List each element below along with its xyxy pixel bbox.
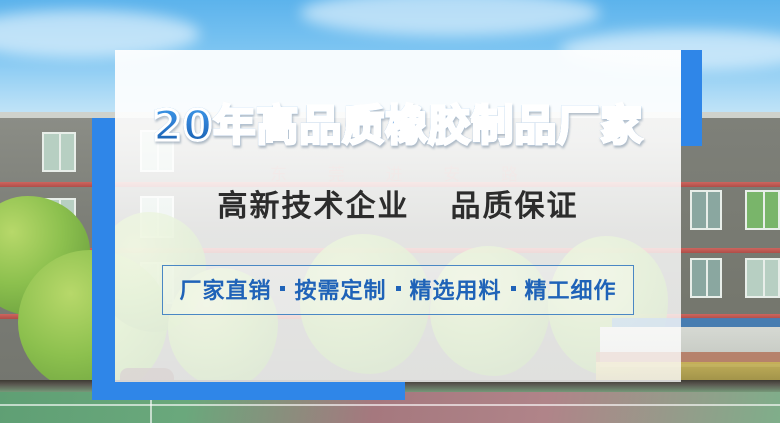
tagline-separator-dot [511, 286, 516, 291]
accent-bar-left [92, 118, 115, 400]
subheadline-left: 高新技术企业 [218, 189, 410, 224]
court-line [0, 404, 780, 406]
tagline-item: 厂家直销 [179, 273, 271, 305]
building-window [690, 190, 722, 230]
building-window [42, 132, 76, 172]
banner-content: 20年高品质橡胶制品厂家 高新技术企业 品质保证 厂家直销 按需定制 精选用料 … [115, 50, 681, 382]
promo-banner: 东 莞 进 安 路 20年高品质橡胶制品厂家 高新技术企业 品质保证 厂家直销 [0, 0, 780, 423]
building-window [745, 258, 780, 298]
tagline-item: 精选用料 [410, 273, 502, 305]
building-window [690, 258, 722, 298]
tagline-item: 精工细作 [525, 273, 617, 305]
tagline-separator-dot [396, 286, 401, 291]
subheadline: 高新技术企业 品质保证 [218, 181, 579, 225]
tagline-list: 厂家直销 按需定制 精选用料 精工细作 [179, 273, 616, 305]
subheadline-right: 品质保证 [450, 189, 578, 224]
tagline-box: 厂家直销 按需定制 精选用料 精工细作 [162, 265, 633, 315]
building-window [745, 190, 780, 230]
tagline-item: 按需定制 [294, 273, 386, 305]
tagline-separator-dot [280, 286, 285, 291]
accent-bar-bottom [92, 382, 405, 400]
accent-bar-right [681, 50, 702, 146]
headline-text: 20年高品质橡胶制品厂家 [153, 105, 643, 147]
